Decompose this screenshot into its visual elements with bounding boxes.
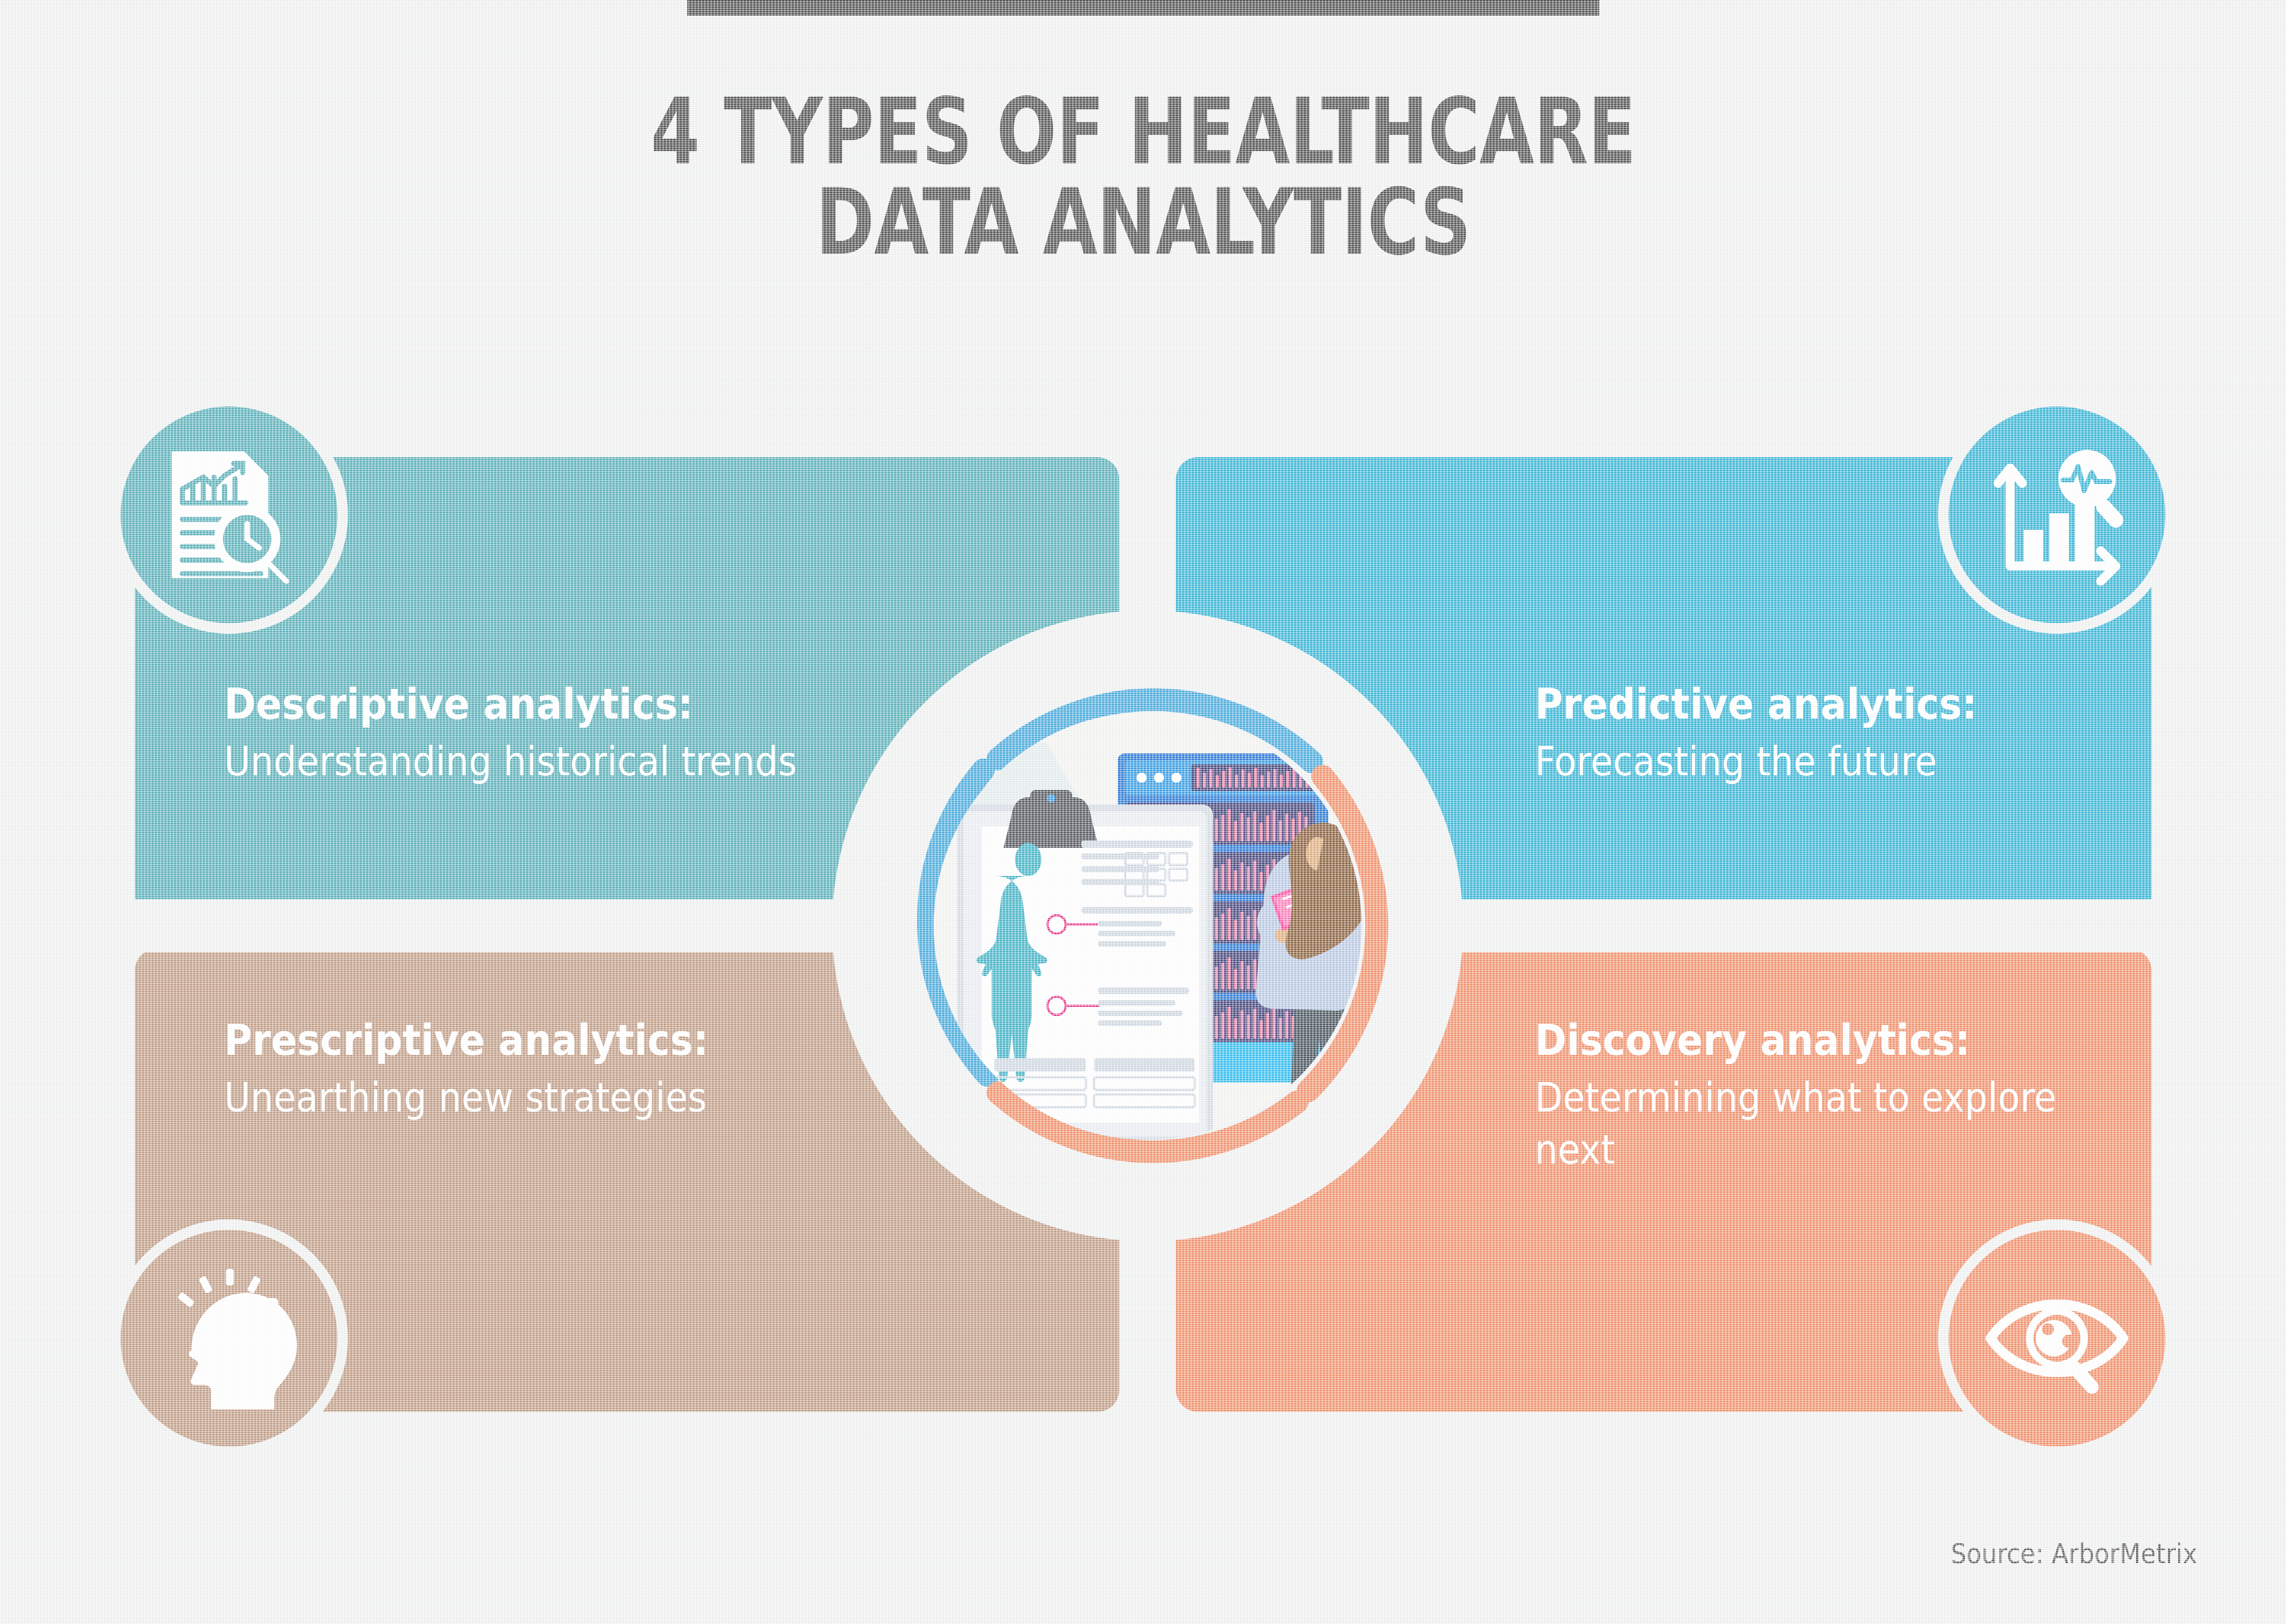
card-predictive-title: Predictive analytics:	[1535, 677, 2143, 732]
page-title: 4 TYPES OF HEALTHCARE DATA ANALYTICS	[160, 87, 2126, 268]
badge-descriptive[interactable]	[110, 396, 348, 634]
eye-magnifier-icon	[1982, 1263, 2132, 1414]
centre-illustration	[844, 622, 1452, 1230]
card-predictive-text: Predictive analytics: Forecasting the fu…	[1535, 677, 2143, 788]
card-prescriptive-title: Prescriptive analytics:	[224, 1013, 832, 1068]
badge-discovery[interactable]	[1938, 1219, 2176, 1457]
document-chart-clock-magnifier-icon	[154, 439, 304, 590]
infographic-stage: 4 TYPES OF HEALTHCARE DATA ANALYTICS	[0, 0, 2286, 1624]
card-descriptive-text: Descriptive analytics: Understanding his…	[224, 677, 832, 788]
card-discovery-title: Discovery analytics:	[1535, 1013, 2143, 1068]
title-line-2: DATA ANALYTICS	[160, 177, 2126, 268]
badge-predictive[interactable]	[1938, 396, 2176, 634]
healthcare-data-illustration	[844, 622, 1452, 1230]
card-descriptive-title: Descriptive analytics:	[224, 677, 832, 732]
card-prescriptive-text: Prescriptive analytics: Unearthing new s…	[224, 1013, 832, 1124]
title-line-1: 4 TYPES OF HEALTHCARE	[160, 87, 2126, 177]
card-discovery-subtitle: Determining what to explore next	[1535, 1072, 2143, 1176]
source-label: Source: ArborMetrix	[1951, 1538, 2197, 1570]
top-rule	[687, 0, 1599, 16]
badge-prescriptive[interactable]	[110, 1219, 348, 1457]
bar-chart-pulse-magnifier-icon	[1982, 439, 2132, 590]
head-growth-arrow-icon	[154, 1263, 304, 1414]
card-descriptive-subtitle: Understanding historical trends	[224, 736, 832, 788]
card-prescriptive-subtitle: Unearthing new strategies	[224, 1072, 832, 1124]
card-discovery-text: Discovery analytics: Determining what to…	[1535, 1013, 2143, 1176]
card-predictive-subtitle: Forecasting the future	[1535, 736, 2143, 788]
